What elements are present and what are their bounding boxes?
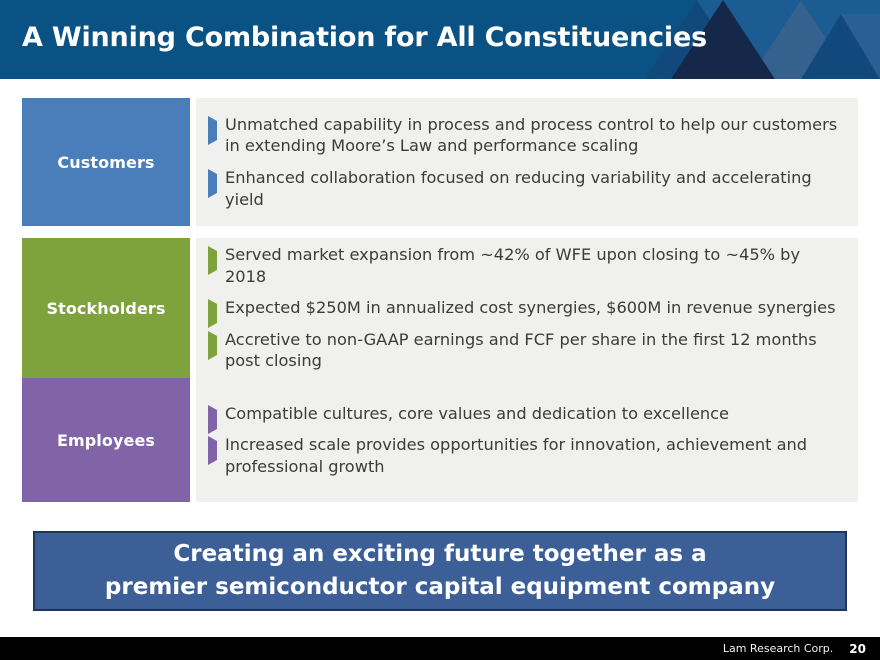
row-content-stockholders: Served market expansion from ~42% of WFE… — [196, 238, 858, 378]
callout-line-1: Creating an exciting future together as … — [173, 541, 706, 567]
row-label-text: Stockholders — [46, 299, 165, 318]
list-item: Expected $250M in annualized cost synerg… — [208, 297, 844, 319]
list-item: Unmatched capability in process and proc… — [208, 114, 844, 157]
list-item-text: Enhanced collaboration focused on reduci… — [225, 167, 844, 210]
bullet-triangle-icon — [208, 250, 217, 259]
constituency-row-customers: Customers Unmatched capability in proces… — [22, 98, 858, 226]
list-item: Enhanced collaboration focused on reduci… — [208, 167, 844, 210]
bullet-triangle-icon — [208, 440, 217, 449]
summary-callout-banner: Creating an exciting future together as … — [33, 531, 847, 611]
row-label-text: Employees — [57, 431, 155, 450]
list-item-text: Compatible cultures, core values and ded… — [225, 403, 844, 425]
row-label-text: Customers — [57, 153, 154, 172]
bullet-triangle-icon — [208, 173, 217, 182]
row-content-customers: Unmatched capability in process and proc… — [196, 98, 858, 226]
bullet-triangle-icon — [208, 120, 217, 129]
bullet-triangle-icon — [208, 303, 217, 312]
footer-company-name: Lam Research Corp. — [723, 642, 833, 655]
row-label-customers: Customers — [22, 98, 190, 226]
constituency-row-employees: Employees Compatible cultures, core valu… — [22, 378, 858, 502]
list-item: Compatible cultures, core values and ded… — [208, 403, 844, 425]
list-item: Increased scale provides opportunities f… — [208, 434, 844, 477]
row-label-employees: Employees — [22, 378, 190, 502]
bullet-triangle-icon — [208, 409, 217, 418]
row-content-employees: Compatible cultures, core values and ded… — [196, 378, 858, 502]
constituency-row-stockholders: Stockholders Served market expansion fro… — [22, 238, 858, 378]
bullet-triangle-icon — [208, 335, 217, 344]
list-item-text: Served market expansion from ~42% of WFE… — [225, 244, 844, 287]
slide-footer: Lam Research Corp. 20 — [0, 637, 880, 660]
list-item-text: Increased scale provides opportunities f… — [225, 434, 844, 477]
callout-text: Creating an exciting future together as … — [105, 538, 775, 603]
list-item-text: Unmatched capability in process and proc… — [225, 114, 844, 157]
page-title: A Winning Combination for All Constituen… — [22, 22, 707, 53]
footer-page-number: 20 — [849, 642, 866, 656]
list-item-text: Expected $250M in annualized cost synerg… — [225, 297, 844, 319]
list-item: Accretive to non-GAAP earnings and FCF p… — [208, 329, 844, 372]
list-item-text: Accretive to non-GAAP earnings and FCF p… — [225, 329, 844, 372]
row-label-stockholders: Stockholders — [22, 238, 190, 378]
slide-header: A Winning Combination for All Constituen… — [0, 0, 880, 79]
list-item: Served market expansion from ~42% of WFE… — [208, 244, 844, 287]
callout-line-2: premier semiconductor capital equipment … — [105, 574, 775, 600]
